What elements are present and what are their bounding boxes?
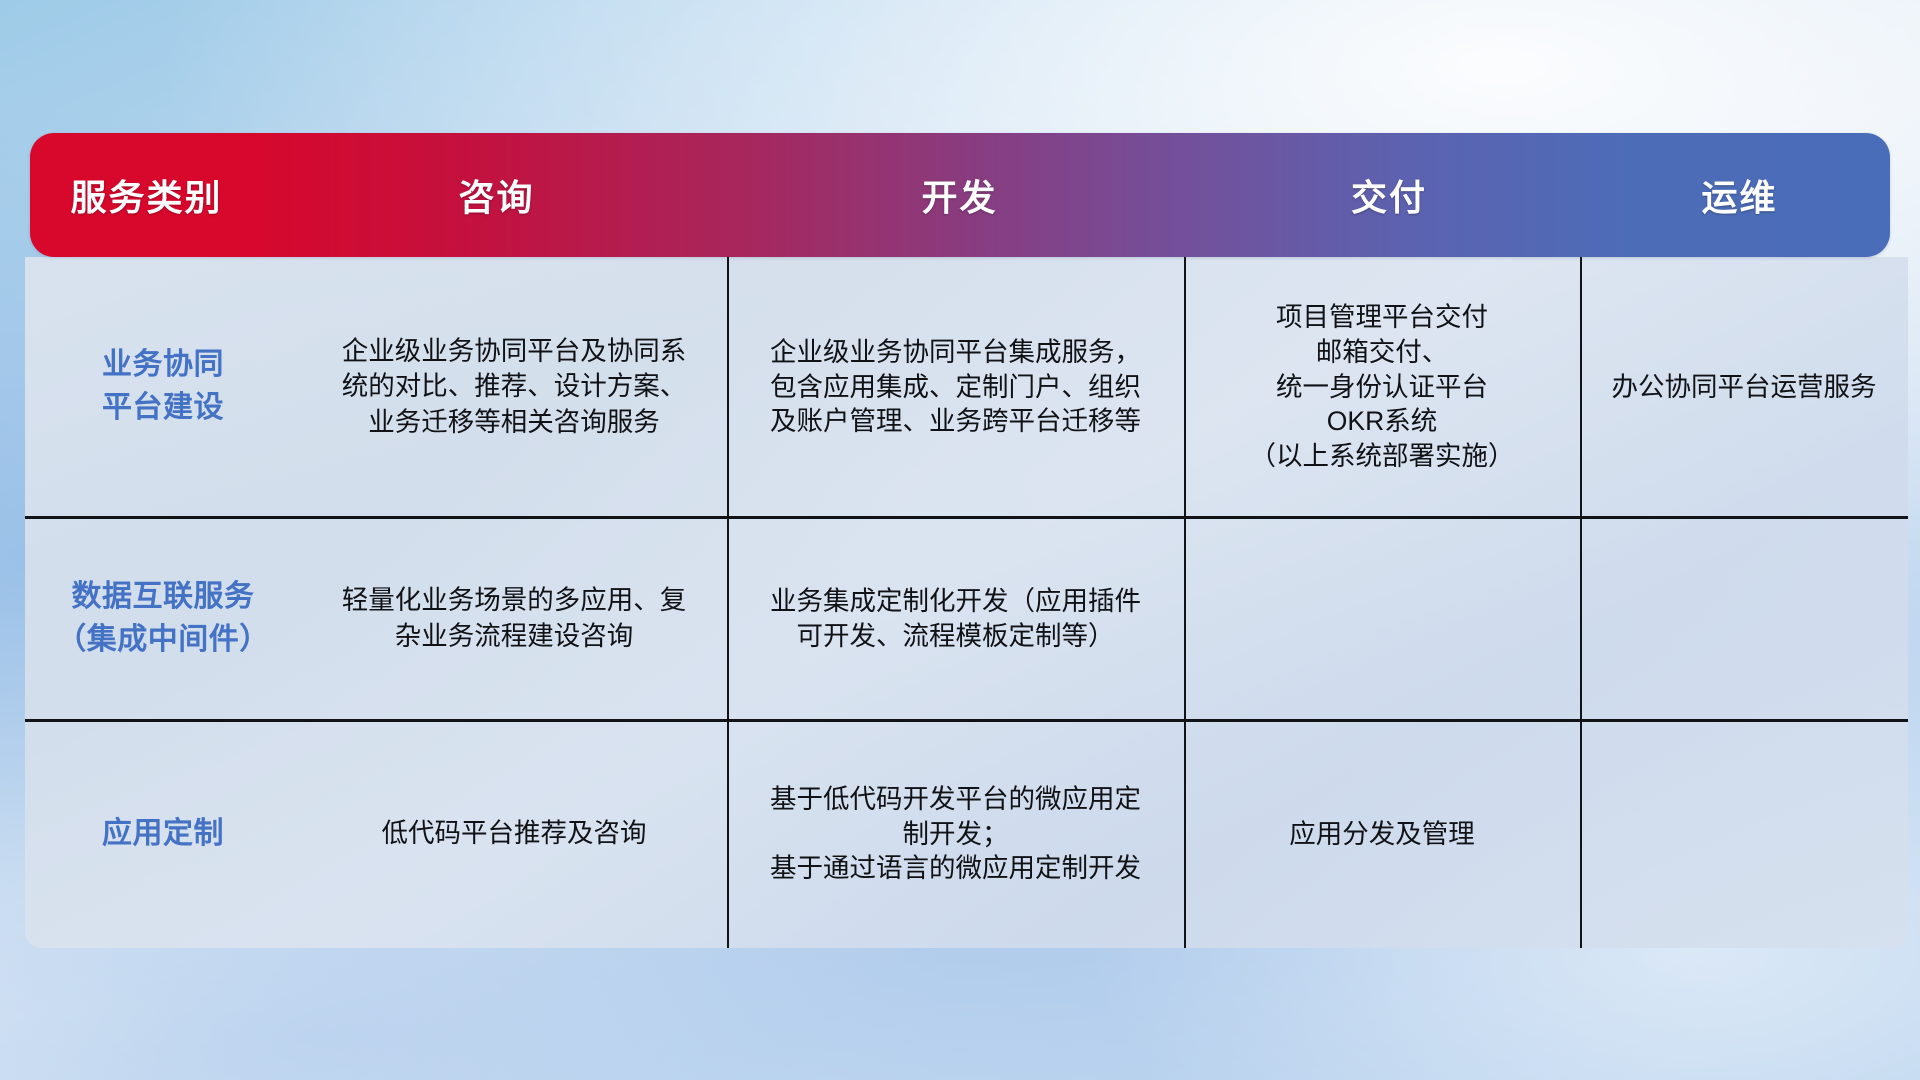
column-divider-1 (727, 257, 729, 948)
column-header-delivery: 交付 (1189, 133, 1589, 257)
table-body: 业务协同 平台建设 企业级业务协同平台及协同系 统的对比、推荐、设计方案、 业务… (25, 257, 1908, 948)
service-matrix-table: 服务类别 咨询 开发 交付 运维 业务协同 平台建设 企业级业务协同平台及协同系… (25, 133, 1908, 948)
column-divider-3 (1580, 257, 1582, 948)
column-header-development: 开发 (730, 133, 1189, 257)
column-divider-2 (1184, 257, 1186, 948)
table-grid-lines (25, 257, 1908, 948)
row-divider-1 (25, 516, 1908, 519)
row-divider-2 (25, 719, 1908, 722)
column-header-category: 服务类别 (30, 133, 263, 257)
column-header-operations: 运维 (1589, 133, 1890, 257)
column-header-consulting: 咨询 (263, 133, 730, 257)
table-header-row: 服务类别 咨询 开发 交付 运维 (30, 133, 1890, 257)
